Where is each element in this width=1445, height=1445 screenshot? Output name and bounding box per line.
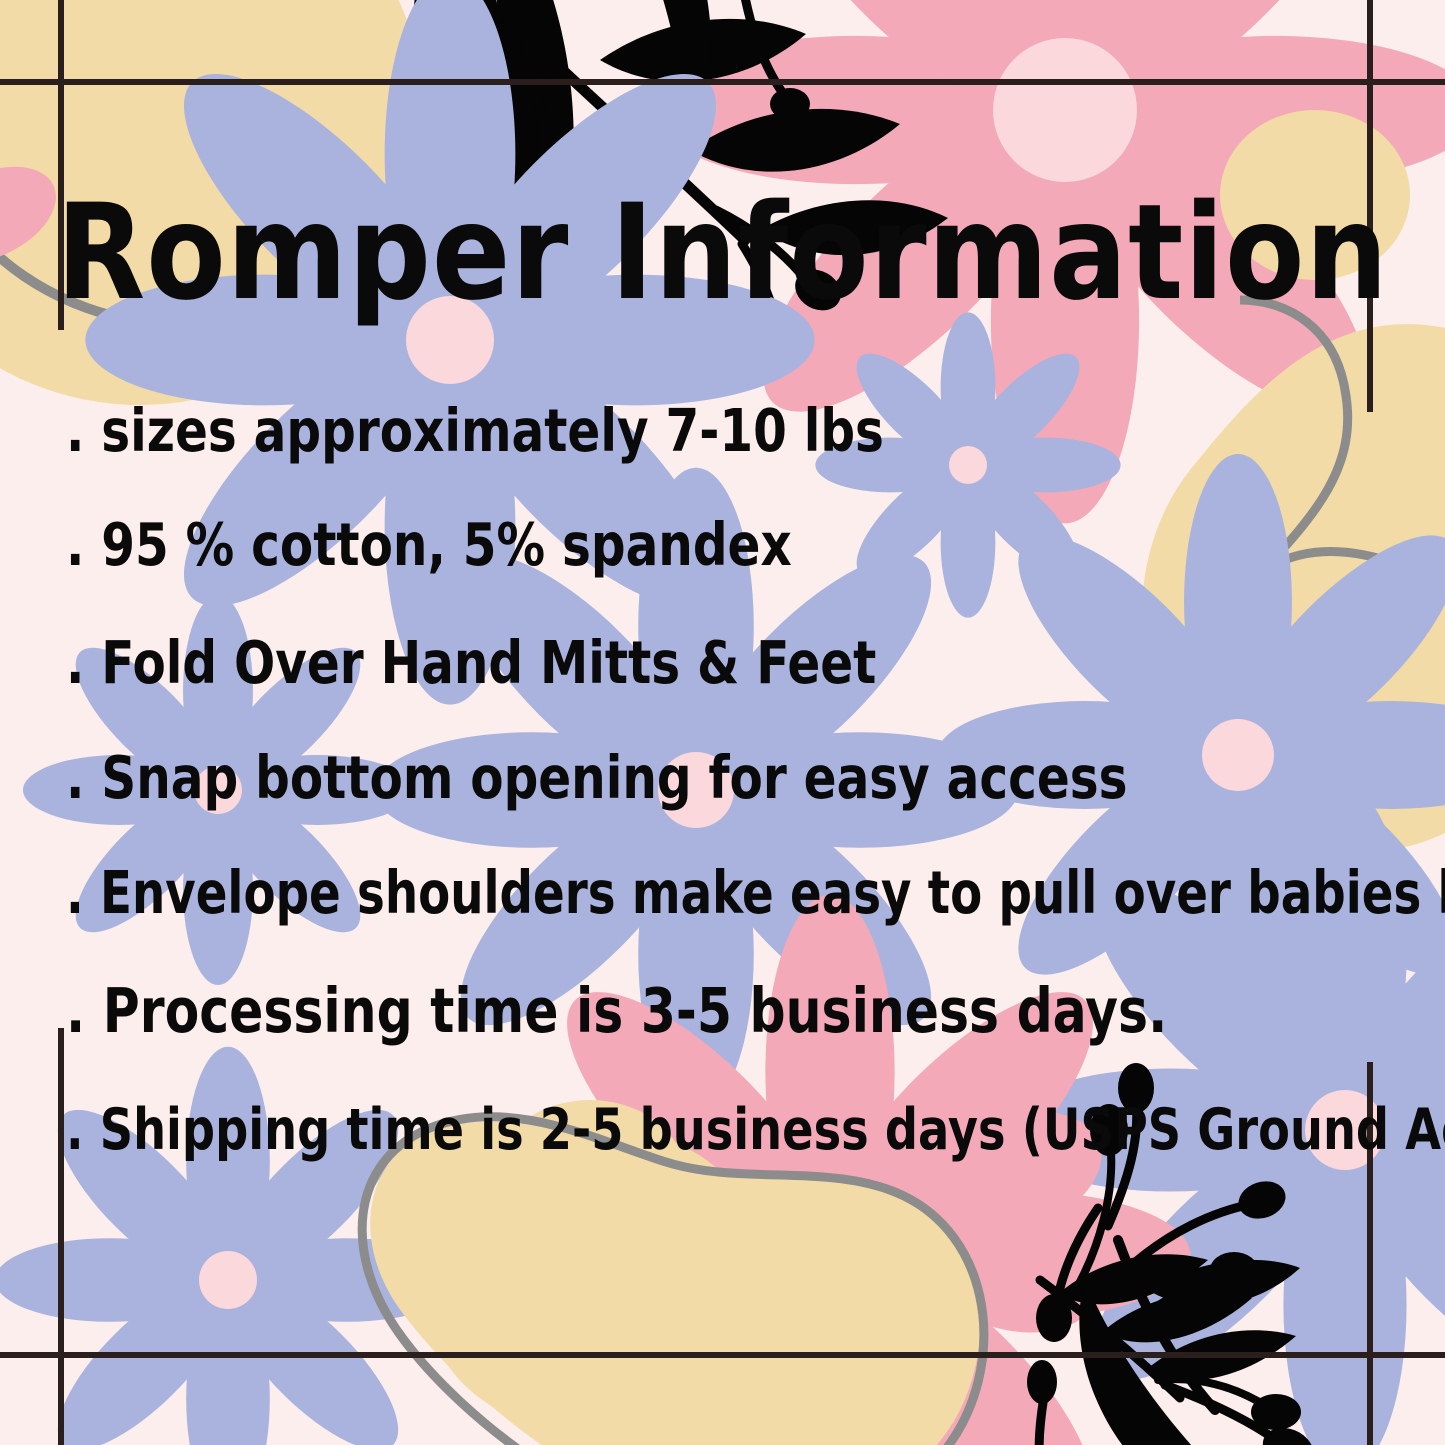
decorative-background-art xyxy=(0,0,1445,1445)
blue-daisy-left xyxy=(23,595,413,985)
top-right-yellow-dot xyxy=(1220,110,1410,280)
blue-daisy-center xyxy=(374,468,1018,1112)
romper-information-graphic: Romper Information . sizes approximately… xyxy=(0,0,1445,1445)
